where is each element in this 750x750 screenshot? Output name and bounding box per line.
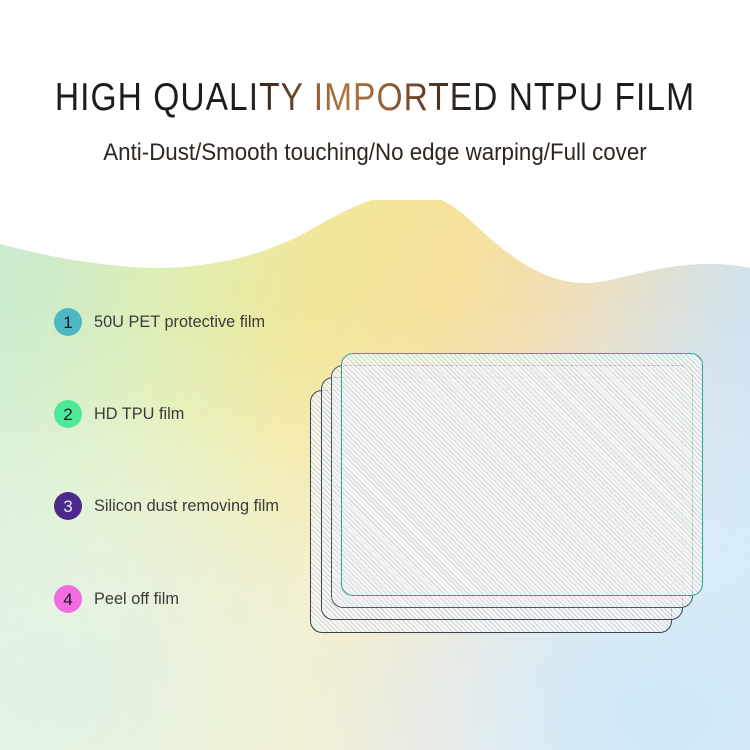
feature-label-1: 50U PET protective film	[94, 312, 265, 332]
feature-label-4: Peel off film	[94, 589, 179, 609]
screen-protector-layer-stack	[295, 340, 715, 645]
badge-number-3: 3	[54, 492, 82, 520]
feature-label-2: HD TPU film	[94, 404, 184, 424]
list-item: 1 50U PET protective film	[54, 306, 272, 338]
page-title: HIGH QUALITY IMPORTED NTPU FILM	[53, 76, 698, 120]
badge-number-1: 1	[54, 308, 82, 336]
feature-label-3: Silicon dust removing film	[94, 496, 279, 516]
page-subtitle: Anti-Dust/Smooth touching/No edge warpin…	[26, 139, 724, 167]
list-item: 2 HD TPU film	[54, 398, 188, 430]
film-layer-pet	[341, 353, 703, 596]
list-item: 4 Peel off film	[54, 583, 183, 615]
badge-number-2: 2	[54, 400, 82, 428]
badge-number-4: 4	[54, 585, 82, 613]
header: HIGH QUALITY IMPORTED NTPU FILM Anti-Dus…	[0, 0, 750, 200]
list-item: 3 Silicon dust removing film	[54, 490, 287, 522]
infographic-page: 1 50U PET protective film 2 HD TPU film …	[0, 0, 750, 750]
